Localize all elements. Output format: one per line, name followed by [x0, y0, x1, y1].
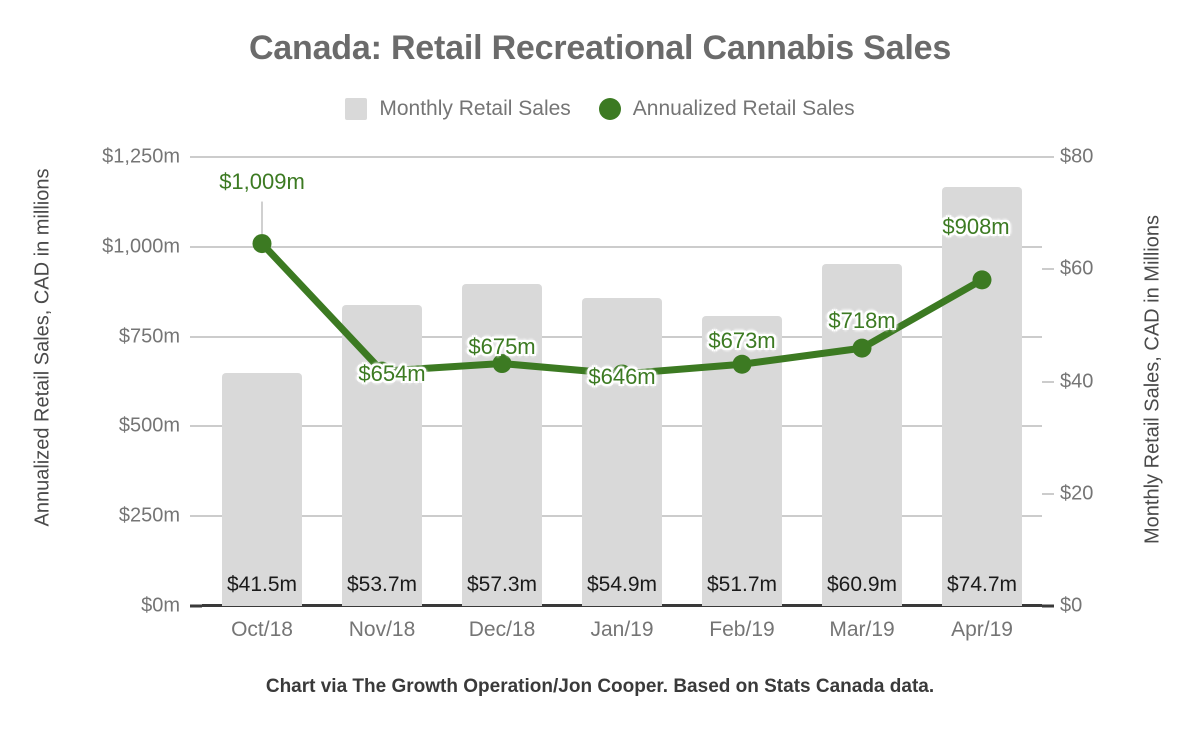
right-axis-tick-label: $80 [1060, 146, 1180, 169]
line-value-label: $654m [358, 361, 425, 387]
x-axis-category-label: Dec/18 [469, 618, 536, 642]
line-value-label: $675m [468, 334, 535, 360]
legend-square-swatch-icon [345, 98, 367, 120]
right-axis-tick-label: $60 [1060, 258, 1180, 281]
gridline [202, 156, 1042, 158]
bar-value-label: $41.5m [227, 573, 297, 597]
right-axis-tick-mark [1042, 156, 1054, 158]
left-axis-tick-mark [190, 336, 202, 338]
chart-legend: Monthly Retail Sales Annualized Retail S… [0, 97, 1200, 121]
bar[interactable] [342, 305, 422, 606]
right-axis-tick-label: $20 [1060, 482, 1180, 505]
left-axis-tick-mark [190, 515, 202, 517]
legend-label-monthly-retail-sales: Monthly Retail Sales [379, 97, 570, 121]
gridline [202, 246, 1042, 248]
line-value-label: $1,009m [219, 169, 305, 195]
bar-value-label: $54.9m [587, 573, 657, 597]
x-axis-category-label: Oct/18 [231, 618, 293, 642]
legend-item-monthly-retail-sales[interactable]: Monthly Retail Sales [345, 97, 570, 121]
right-axis-tick-mark [1042, 268, 1054, 270]
left-axis-tick-mark [190, 605, 202, 608]
bar[interactable] [702, 316, 782, 606]
left-axis-tick-label: $1,000m [10, 235, 180, 258]
left-axis-tick-label: $750m [10, 325, 180, 348]
left-axis-tick-label: $1,250m [10, 146, 180, 169]
x-axis-category-label: Mar/19 [829, 618, 894, 642]
left-axis-tick-mark [190, 156, 202, 158]
x-axis-category-label: Apr/19 [951, 618, 1013, 642]
line-value-label: $908m [942, 214, 1009, 240]
left-axis-tick-label: $0m [10, 595, 180, 618]
bar-value-label: $53.7m [347, 573, 417, 597]
bar[interactable] [222, 373, 302, 606]
right-axis-tick-label: $40 [1060, 370, 1180, 393]
bar-value-label: $57.3m [467, 573, 537, 597]
bar[interactable] [942, 187, 1022, 606]
right-axis-tick-mark [1042, 381, 1054, 383]
footer-caption: Chart via The Growth Operation/Jon Coope… [0, 676, 1200, 698]
bar-value-label: $51.7m [707, 573, 777, 597]
line-value-label: $673m [708, 328, 775, 354]
right-axis-tick-mark [1042, 493, 1054, 495]
legend-label-annualized-retail-sales: Annualized Retail Sales [633, 97, 855, 121]
legend-circle-swatch-icon [599, 98, 621, 120]
right-axis-tick-mark [1042, 605, 1054, 608]
left-axis-tick-mark [190, 425, 202, 427]
x-axis-category-label: Nov/18 [349, 618, 416, 642]
line-value-label: $718m [828, 308, 895, 334]
right-axis-tick-label: $0 [1060, 595, 1180, 618]
line-value-label: $646m [588, 364, 655, 390]
bar[interactable] [582, 298, 662, 606]
left-axis-tick-label: $250m [10, 505, 180, 528]
legend-item-annualized-retail-sales[interactable]: Annualized Retail Sales [599, 97, 855, 121]
bar-value-label: $74.7m [947, 573, 1017, 597]
chart-title: Canada: Retail Recreational Cannabis Sal… [0, 29, 1200, 68]
bar-value-label: $60.9m [827, 573, 897, 597]
x-axis-category-label: Jan/19 [590, 618, 653, 642]
x-axis-category-label: Feb/19 [709, 618, 774, 642]
left-axis-tick-label: $500m [10, 415, 180, 438]
left-axis-tick-mark [190, 246, 202, 248]
